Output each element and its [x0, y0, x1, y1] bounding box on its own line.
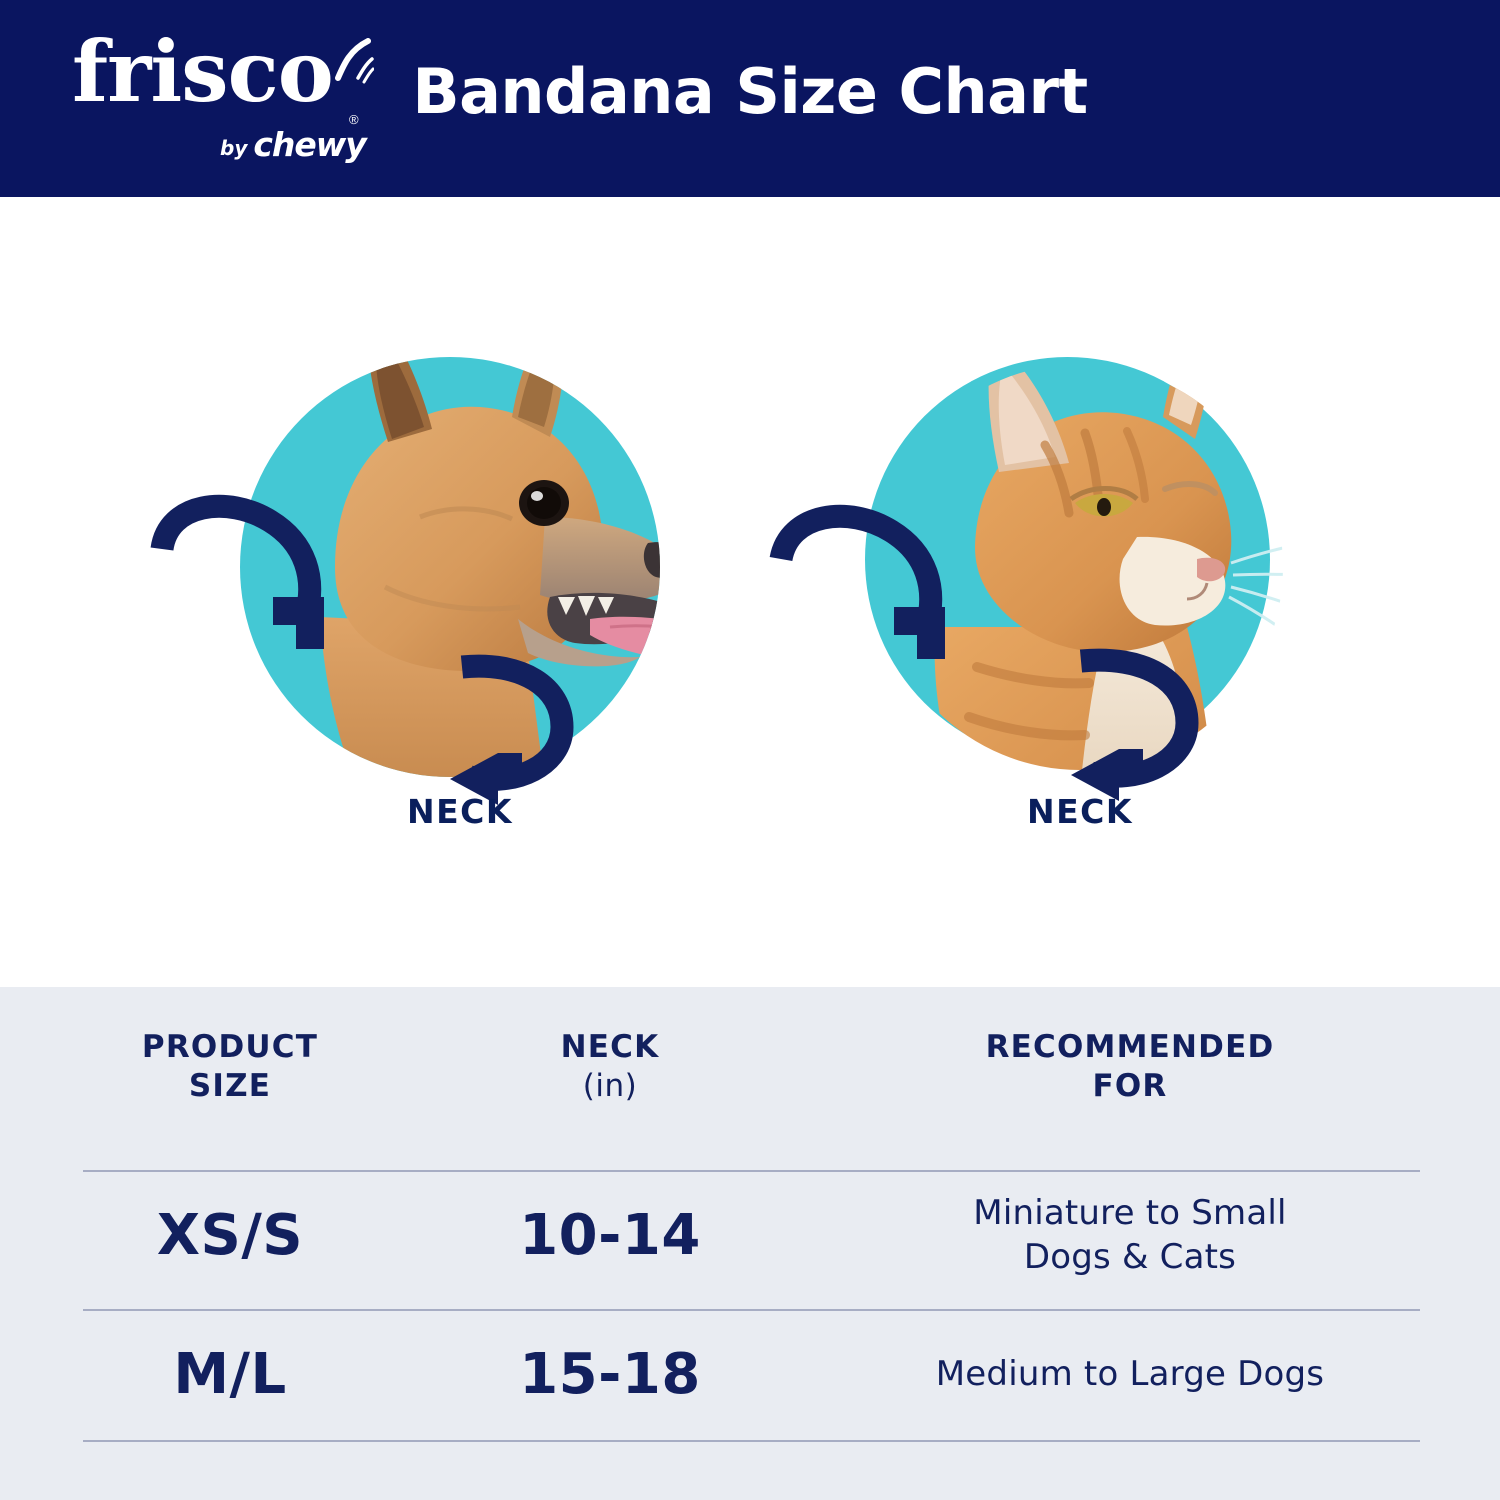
- brand-by-label: by: [220, 138, 247, 161]
- table-row: XS/S 10-14 Miniature to Small Dogs & Cat…: [0, 1170, 1500, 1300]
- column-header-neck-unit: (in): [561, 1067, 660, 1106]
- brand-parent-wordmark: chewy: [253, 128, 365, 161]
- cat-photo-illustration: [745, 267, 1405, 867]
- dog-illustration-block: NECK: [140, 197, 740, 987]
- size-chart-page: frisco ® by chewy Bandana Size Chart: [0, 0, 1500, 1500]
- cell-recommended-for-line1: Medium to Large Dogs: [936, 1352, 1324, 1396]
- column-header-neck-line1: NECK: [561, 1028, 660, 1067]
- cell-recommended-for-line1: Miniature to Small: [973, 1191, 1286, 1235]
- column-header-recommended-for-line1: RECOMMENDED: [986, 1028, 1275, 1067]
- cell-neck-range: 15-18: [460, 1309, 760, 1439]
- table-row: M/L 15-18 Medium to Large Dogs: [0, 1309, 1500, 1439]
- dog-accent-circle: [240, 357, 660, 777]
- column-header-recommended-for: RECOMMENDED FOR: [760, 1007, 1500, 1127]
- cell-recommended-for: Miniature to Small Dogs & Cats: [760, 1170, 1500, 1300]
- header-bar: frisco ® by chewy Bandana Size Chart: [0, 0, 1500, 197]
- dog-neck-label: NECK: [160, 792, 760, 831]
- brand-parent-lockup: by chewy: [220, 128, 366, 161]
- column-header-neck: NECK (in): [460, 1007, 760, 1127]
- illustration-section: NECK: [0, 197, 1500, 987]
- dog-photo-illustration: [120, 267, 780, 867]
- table-divider: [83, 1440, 1420, 1442]
- cell-recommended-for: Medium to Large Dogs: [760, 1309, 1500, 1439]
- cat-accent-circle: [865, 357, 1270, 762]
- cell-product-size: XS/S: [0, 1170, 460, 1300]
- column-header-product-size-line2: SIZE: [142, 1067, 318, 1106]
- cat-illustration-block: NECK: [780, 197, 1380, 987]
- column-header-product-size-line1: PRODUCT: [142, 1028, 318, 1067]
- cell-recommended-for-line2: Dogs & Cats: [973, 1235, 1286, 1279]
- column-header-recommended-for-line2: FOR: [986, 1067, 1275, 1106]
- table-header-row: PRODUCT SIZE NECK (in) RECOMMENDED FOR: [0, 1007, 1500, 1127]
- size-table: PRODUCT SIZE NECK (in) RECOMMENDED FOR X…: [0, 987, 1500, 1500]
- page-title: Bandana Size Chart: [0, 58, 1500, 126]
- column-header-product-size: PRODUCT SIZE: [0, 1007, 460, 1127]
- cat-neck-label: NECK: [780, 792, 1380, 831]
- cell-product-size: M/L: [0, 1309, 460, 1439]
- cell-neck-range: 10-14: [460, 1170, 760, 1300]
